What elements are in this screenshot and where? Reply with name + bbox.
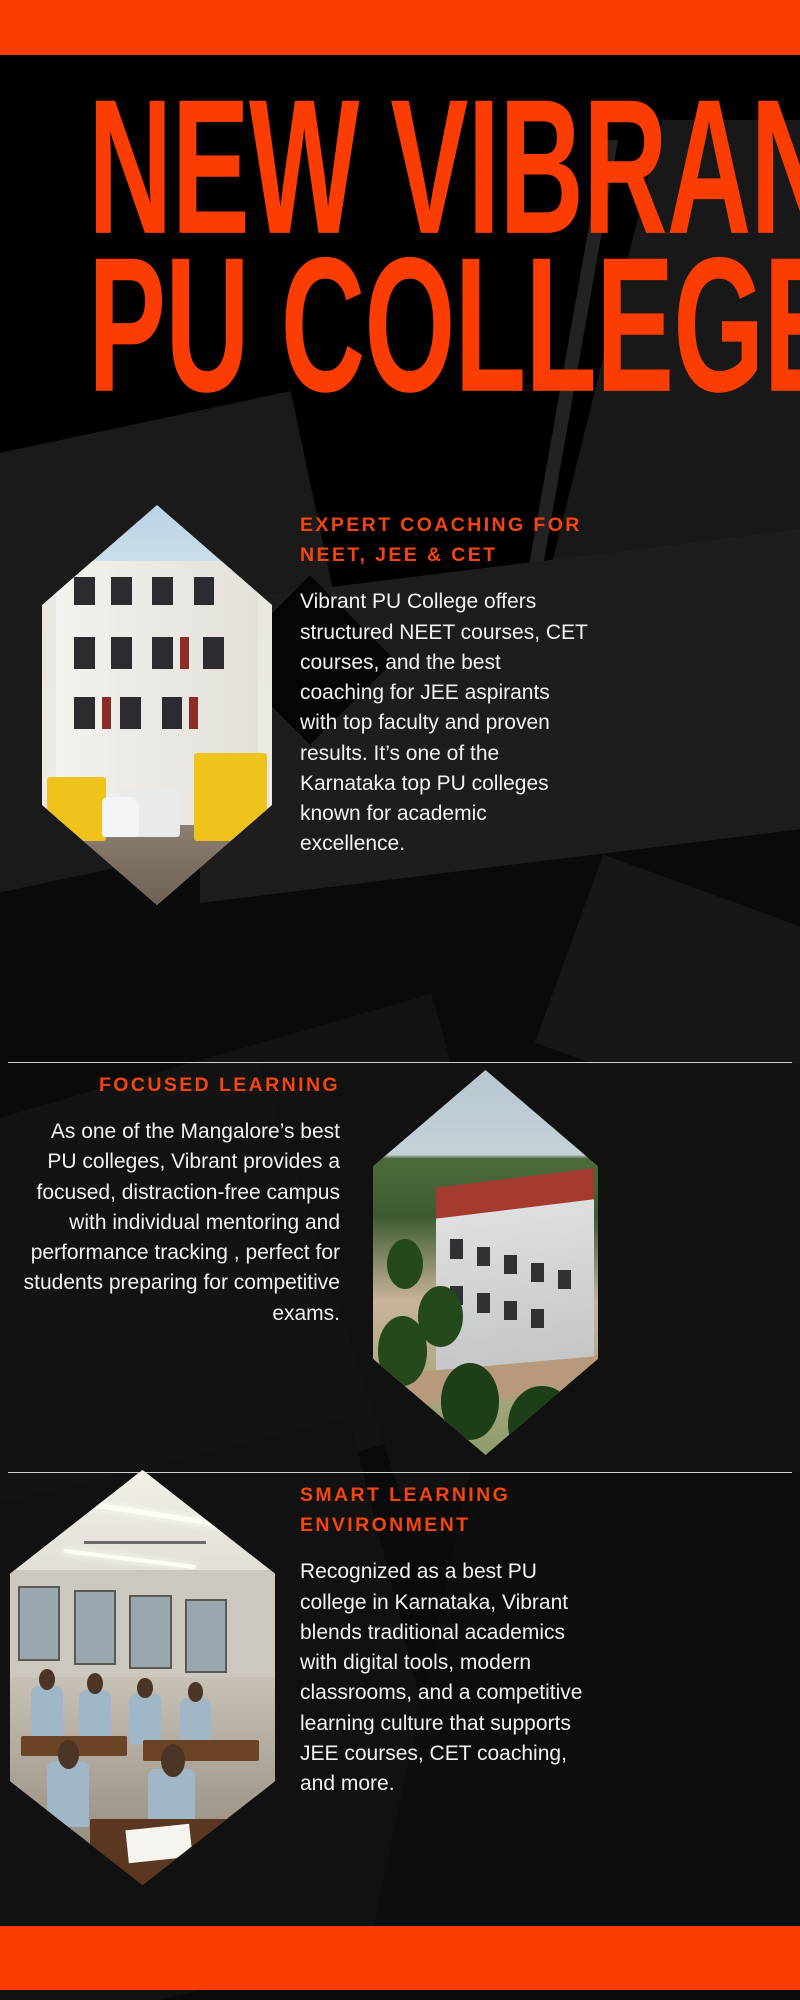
section-3-heading: SMART LEARNING ENVIRONMENT [300, 1480, 593, 1540]
bottom-accent-bar [0, 1926, 800, 1990]
title-line-2: PU COLLEGE [88, 236, 712, 415]
section-1-heading: EXPERT COACHING FOR NEET, JEE & CET [300, 510, 590, 570]
section-2-heading: FOCUSED LEARNING [20, 1070, 340, 1100]
classroom-image [10, 1470, 275, 1885]
section-2-body: As one of the Mangalore’s best PU colleg… [20, 1117, 340, 1329]
photo-campus-building [42, 505, 272, 905]
section-divider-1 [8, 1062, 792, 1063]
hexagon-image-frame-1 [42, 505, 272, 905]
poster-title: NEW VIBRANT PU COLLEGE [0, 78, 800, 375]
section-expert-coaching: EXPERT COACHING FOR NEET, JEE & CET Vibr… [0, 600, 800, 1060]
section-smart-learning: SMART LEARNING ENVIRONMENT Recognized as… [0, 1485, 800, 1925]
photo-aerial-campus [373, 1070, 598, 1455]
hexagon-image-frame-2 [373, 1070, 598, 1455]
section-1-body: Vibrant PU College offers structured NEE… [300, 587, 590, 859]
aerial-campus-image [373, 1070, 598, 1455]
hexagon-image-frame-3 [10, 1470, 275, 1885]
infographic-poster: NEW VIBRANT PU COLLEGE [0, 0, 800, 2000]
college-building-image [42, 505, 272, 905]
section-3-text: SMART LEARNING ENVIRONMENT Recognized as… [300, 1480, 593, 1799]
photo-classroom [10, 1470, 275, 1885]
section-focused-learning: FOCUSED LEARNING As one of the Mangalore… [0, 1075, 800, 1470]
section-2-text: FOCUSED LEARNING As one of the Mangalore… [20, 1070, 340, 1329]
section-1-text: EXPERT COACHING FOR NEET, JEE & CET Vibr… [300, 510, 590, 860]
section-3-body: Recognized as a best PU college in Karna… [300, 1557, 593, 1799]
top-accent-bar [0, 0, 800, 55]
